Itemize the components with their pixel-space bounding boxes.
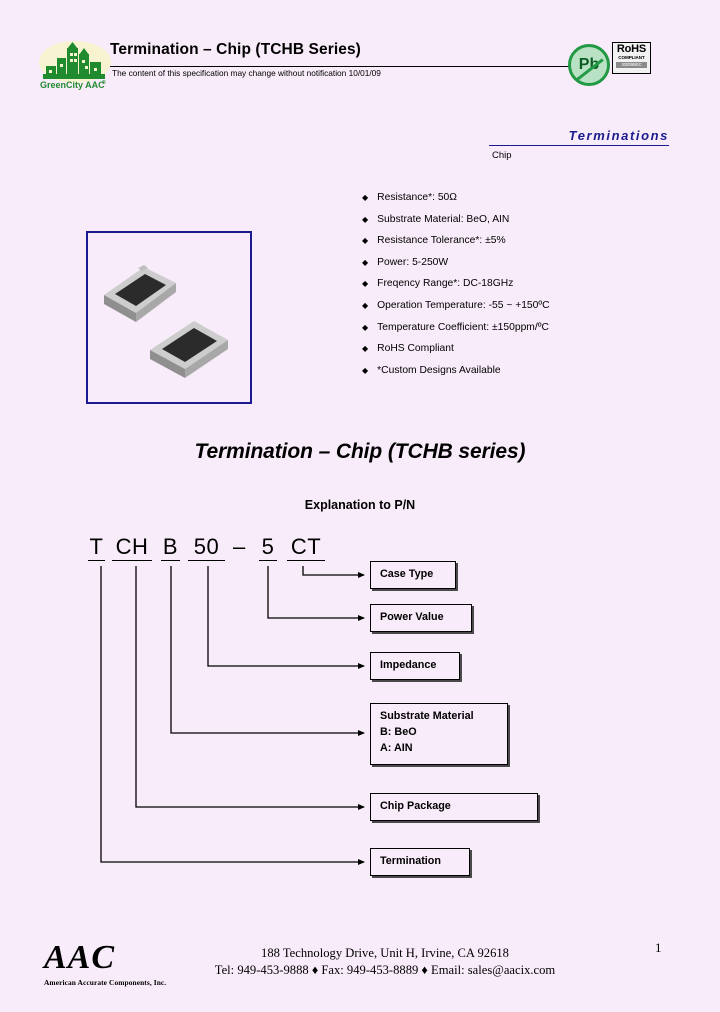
section-subtitle: Chip <box>489 146 669 161</box>
rohs-compliant-mark: RoHS COMPLIANT 2002/95/EC <box>612 42 651 74</box>
product-title: Termination – Chip (TCHB series) <box>0 440 720 464</box>
lead-free-pb-icon: Pb <box>568 44 610 86</box>
callout-substrate-material: Substrate Material B: BeO A: AIN <box>370 703 508 765</box>
address-line: 188 Technology Drive, Unit H, Irvine, CA… <box>170 945 600 962</box>
pn-segment-chip-package: CH <box>112 535 152 561</box>
spec-text: Substrate Material: BeO, AIN <box>377 214 509 225</box>
diamond-bullet-icon: ◆ <box>362 280 368 288</box>
callout-label: Impedance <box>380 659 436 671</box>
callout-option-ain: A: AIN <box>380 740 507 756</box>
svg-text:GreenCity AAC: GreenCity AAC <box>40 80 105 90</box>
spec-text: Temperature Coefficient: ±150ppm/ºC <box>377 322 549 333</box>
spec-text: Power: 5-250W <box>377 257 448 268</box>
page-number: 1 <box>655 940 662 956</box>
diamond-bullet-icon: ◆ <box>362 237 368 245</box>
diamond-bullet-icon: ◆ <box>362 302 368 310</box>
pn-segment-case-type: CT <box>287 535 325 561</box>
page-footer: AAC American Accurate Components, Inc. 1… <box>0 925 720 1012</box>
pn-segment-power-value: 5 <box>259 535 277 561</box>
chip-termination-illustration <box>88 233 250 402</box>
diamond-bullet-icon: ◆ <box>362 345 368 353</box>
spec-item: ◆ Temperature Coefficient: ±150ppm/ºC <box>362 322 682 333</box>
header-divider <box>110 66 580 67</box>
diamond-bullet-icon: ◆ <box>362 367 368 375</box>
diamond-bullet-icon: ◆ <box>362 194 368 202</box>
spec-text: Resistance Tolerance*: ±5% <box>377 235 506 246</box>
callout-power-value: Power Value <box>370 604 472 632</box>
page-header: GreenCity AAC ® Termination – Chip (TCHB… <box>0 0 720 108</box>
pn-segment-termination: T <box>88 535 105 561</box>
callout-chip-package: Chip Package <box>370 793 538 821</box>
callout-label: Termination <box>380 855 441 867</box>
callout-option-beo: B: BeO <box>380 724 507 740</box>
rohs-badge: Pb RoHS COMPLIANT 2002/95/EC <box>568 42 652 88</box>
aac-company-name: American Accurate Components, Inc. <box>44 978 166 987</box>
rohs-directive-label: 2002/95/EC <box>616 62 647 68</box>
spec-text: Resistance*: 50Ω <box>377 192 457 203</box>
diamond-bullet-icon: ◆ <box>362 259 368 267</box>
spec-item: ◆ Substrate Material: BeO, AIN <box>362 214 682 225</box>
spec-item: ◆ Power: 5-250W <box>362 257 682 268</box>
callout-label: Case Type <box>380 568 433 580</box>
callout-label: Power Value <box>380 611 444 623</box>
callout-case-type: Case Type <box>370 561 456 589</box>
diamond-bullet-icon: ◆ <box>362 324 368 332</box>
section-title: Terminations <box>489 128 669 145</box>
callout-label: Substrate Material <box>380 708 507 724</box>
svg-text:®: ® <box>102 79 106 86</box>
pn-segment-substrate-material: B <box>161 535 180 561</box>
product-image-frame <box>86 231 252 404</box>
callout-label: Chip Package <box>380 800 451 812</box>
section-label-block: Terminations Chip <box>489 128 669 161</box>
spec-item: ◆ *Custom Designs Available <box>362 365 682 376</box>
spec-item: ◆ Freqency Range*: DC-18GHz <box>362 278 682 289</box>
pn-dash: – <box>233 535 246 559</box>
datasheet-page: GreenCity AAC ® Termination – Chip (TCHB… <box>0 0 720 1012</box>
spec-text: Freqency Range*: DC-18GHz <box>377 278 513 289</box>
spec-item: ◆ RoHS Compliant <box>362 343 682 354</box>
spec-item: ◆ Resistance Tolerance*: ±5% <box>362 235 682 246</box>
rohs-title: RoHS <box>613 44 650 55</box>
spec-text: Operation Temperature: -55 ~ +150ºC <box>377 300 549 311</box>
spec-text: *Custom Designs Available <box>377 365 500 376</box>
pn-segment-impedance: 50 <box>188 535 225 561</box>
greencity-skyline-icon: GreenCity AAC ® <box>38 40 112 90</box>
callout-impedance: Impedance <box>370 652 460 680</box>
spec-text: RoHS Compliant <box>377 343 454 354</box>
spec-item: ◆ Operation Temperature: -55 ~ +150ºC <box>362 300 682 311</box>
contact-line: Tel: 949-453-9888 ♦ Fax: 949-453-8889 ♦ … <box>170 962 600 979</box>
contact-info: 188 Technology Drive, Unit H, Irvine, CA… <box>170 945 600 979</box>
diamond-bullet-icon: ◆ <box>362 216 368 224</box>
specifications-list: ◆ Resistance*: 50Ω ◆ Substrate Material:… <box>362 192 682 386</box>
pn-explanation-heading: Explanation to P/N <box>0 498 720 512</box>
header-subtitle: The content of this specification may ch… <box>112 68 381 78</box>
header-title: Termination – Chip (TCHB Series) <box>110 41 361 59</box>
rohs-compliant-label: COMPLIANT <box>613 55 650 61</box>
aac-logo: AAC <box>44 941 115 975</box>
callout-termination: Termination <box>370 848 470 876</box>
spec-item: ◆ Resistance*: 50Ω <box>362 192 682 203</box>
